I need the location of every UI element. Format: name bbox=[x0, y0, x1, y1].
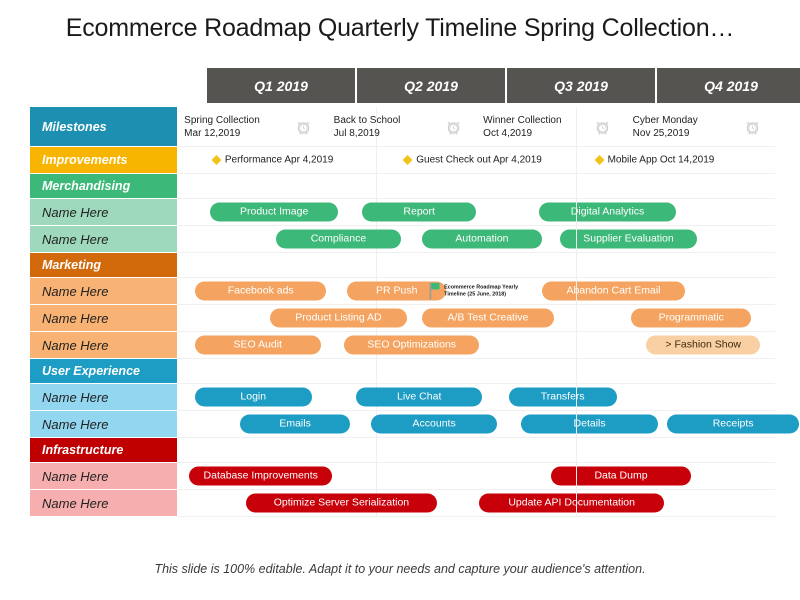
flag-note-line1: Ecommerce Roadmap Yearly bbox=[444, 284, 518, 291]
row-track-ux-2: EmailsAccountsDetailsReceipts bbox=[177, 411, 775, 438]
improvement-label: Mobile App Oct 14,2019 bbox=[608, 155, 715, 166]
row-track-ux-1: LoginLive ChatTransfers bbox=[177, 384, 775, 411]
alarm-clock-icon bbox=[594, 118, 611, 135]
task-bar[interactable]: Abandon Cart Email bbox=[542, 282, 686, 301]
roadmap-row-ux-1: Name HereLoginLive ChatTransfers bbox=[30, 384, 775, 411]
roadmap-row-mkt-2: Name HereProduct Listing ADA/B Test Crea… bbox=[30, 305, 775, 332]
row-track-milestones: Spring CollectionMar 12,2019Back to Scho… bbox=[177, 107, 775, 147]
task-bar[interactable]: Update API Documentation bbox=[479, 494, 664, 513]
alarm-clock-icon bbox=[295, 118, 312, 135]
row-track-merch-1: Product ImageReportDigital Analytics bbox=[177, 199, 775, 226]
milestone-date: Oct 4,2019 bbox=[483, 127, 561, 140]
milestone-date: Nov 25,2019 bbox=[633, 127, 698, 140]
row-track-mkt-2: Product Listing ADA/B Test CreativeProgr… bbox=[177, 305, 775, 332]
page-title: Ecommerce Roadmap Quarterly Timeline Spr… bbox=[0, 14, 800, 43]
roadmap-row-infra-1: Name HereDatabase ImprovementsData Dump bbox=[30, 463, 775, 490]
task-bar[interactable]: Report bbox=[362, 203, 476, 222]
task-bar[interactable]: Login bbox=[195, 388, 312, 407]
task-bar[interactable]: Optimize Server Serialization bbox=[246, 494, 437, 513]
flag-annotation: Ecommerce Roadmap YearlyTimeline (25 Jun… bbox=[428, 282, 518, 301]
task-bar[interactable]: Programmatic bbox=[631, 309, 751, 328]
row-label-marketing[interactable]: Marketing bbox=[30, 253, 177, 278]
row-label-merch-1[interactable]: Name Here bbox=[30, 199, 177, 226]
task-bar[interactable]: Digital Analytics bbox=[539, 203, 677, 222]
task-bar[interactable]: Accounts bbox=[371, 415, 497, 434]
roadmap-row-merch-1: Name HereProduct ImageReportDigital Anal… bbox=[30, 199, 775, 226]
diamond-marker-icon bbox=[211, 155, 221, 165]
task-bar[interactable]: SEO Optimizations bbox=[344, 336, 479, 355]
milestone-2: Back to SchoolJul 8,2019 bbox=[334, 114, 401, 140]
task-bar[interactable]: Supplier Evaluation bbox=[560, 230, 698, 249]
task-bar[interactable]: Transfers bbox=[509, 388, 617, 407]
milestone-name: Winner Collection bbox=[483, 114, 561, 127]
row-track-marketing bbox=[177, 253, 775, 278]
roadmap-row-infra: Infrastructure bbox=[30, 438, 775, 463]
row-label-improvements[interactable]: Improvements bbox=[30, 147, 177, 174]
milestone-4: Cyber MondayNov 25,2019 bbox=[633, 114, 698, 140]
row-label-infra-2[interactable]: Name Here bbox=[30, 490, 177, 517]
row-label-infra[interactable]: Infrastructure bbox=[30, 438, 177, 463]
row-track-ux bbox=[177, 359, 775, 384]
alarm-clock-icon bbox=[744, 118, 761, 135]
task-bar[interactable]: Product Listing AD bbox=[270, 309, 408, 328]
roadmap-row-merchandising: Merchandising bbox=[30, 174, 775, 199]
row-label-merchandising[interactable]: Merchandising bbox=[30, 174, 177, 199]
row-track-merchandising bbox=[177, 174, 775, 199]
milestone-name: Spring Collection bbox=[184, 114, 260, 127]
row-label-ux-2[interactable]: Name Here bbox=[30, 411, 177, 438]
flag-icon bbox=[428, 282, 441, 301]
milestone-date: Jul 8,2019 bbox=[334, 127, 401, 140]
flag-annotation-text: Ecommerce Roadmap YearlyTimeline (25 Jun… bbox=[444, 284, 518, 298]
row-track-mkt-1: Facebook adsPR PushAbandon Cart EmailEco… bbox=[177, 278, 775, 305]
row-label-mkt-3[interactable]: Name Here bbox=[30, 332, 177, 359]
diamond-marker-icon bbox=[594, 155, 604, 165]
task-bar[interactable]: SEO Audit bbox=[195, 336, 321, 355]
row-label-merch-2[interactable]: Name Here bbox=[30, 226, 177, 253]
row-label-mkt-2[interactable]: Name Here bbox=[30, 305, 177, 332]
flag-note-line2: Timeline (25 June, 2018) bbox=[444, 291, 518, 298]
task-bar[interactable]: Product Image bbox=[210, 203, 339, 222]
roadmap-slide: Ecommerce Roadmap Quarterly Timeline Spr… bbox=[0, 0, 800, 600]
improvement-2: Guest Check out Apr 4,2019 bbox=[404, 155, 542, 166]
row-track-infra bbox=[177, 438, 775, 463]
improvement-label: Performance Apr 4,2019 bbox=[225, 155, 333, 166]
milestone-name: Back to School bbox=[334, 114, 401, 127]
quarter-header-row: Q1 2019Q2 2019Q3 2019Q4 2019 bbox=[207, 68, 800, 103]
row-track-mkt-3: SEO AuditSEO Optimizations> Fashion Show bbox=[177, 332, 775, 359]
row-track-infra-1: Database ImprovementsData Dump bbox=[177, 463, 775, 490]
improvement-3: Mobile App Oct 14,2019 bbox=[596, 155, 715, 166]
row-track-merch-2: ComplianceAutomationSupplier Evaluation bbox=[177, 226, 775, 253]
task-bar[interactable]: Live Chat bbox=[356, 388, 482, 407]
row-label-mkt-1[interactable]: Name Here bbox=[30, 278, 177, 305]
improvement-1: Performance Apr 4,2019 bbox=[213, 155, 333, 166]
row-track-infra-2: Optimize Server SerializationUpdate API … bbox=[177, 490, 775, 517]
row-label-milestones[interactable]: Milestones bbox=[30, 107, 177, 147]
milestone-date: Mar 12,2019 bbox=[184, 127, 260, 140]
task-bar[interactable]: Receipts bbox=[667, 415, 799, 434]
roadmap-row-milestones: MilestonesSpring CollectionMar 12,2019Ba… bbox=[30, 107, 775, 147]
milestone-name: Cyber Monday bbox=[633, 114, 698, 127]
milestone-3: Winner CollectionOct 4,2019 bbox=[483, 114, 561, 140]
quarter-header-1: Q1 2019 bbox=[207, 68, 357, 103]
alarm-clock-icon bbox=[445, 118, 462, 135]
row-label-ux-1[interactable]: Name Here bbox=[30, 384, 177, 411]
milestone-1: Spring CollectionMar 12,2019 bbox=[184, 114, 260, 140]
roadmap-row-mkt-3: Name HereSEO AuditSEO Optimizations> Fas… bbox=[30, 332, 775, 359]
task-bar[interactable]: Details bbox=[521, 415, 659, 434]
row-track-improvements: Performance Apr 4,2019Guest Check out Ap… bbox=[177, 147, 775, 174]
improvement-label: Guest Check out Apr 4,2019 bbox=[416, 155, 542, 166]
task-bar[interactable]: Facebook ads bbox=[195, 282, 327, 301]
quarter-header-2: Q2 2019 bbox=[357, 68, 507, 103]
row-label-infra-1[interactable]: Name Here bbox=[30, 463, 177, 490]
diamond-marker-icon bbox=[403, 155, 413, 165]
footer-note: This slide is 100% editable. Adapt it to… bbox=[0, 562, 800, 576]
roadmap-row-infra-2: Name HereOptimize Server SerializationUp… bbox=[30, 490, 775, 517]
task-bar[interactable]: > Fashion Show bbox=[646, 336, 760, 355]
roadmap-row-ux: User Experience bbox=[30, 359, 775, 384]
roadmap-row-merch-2: Name HereComplianceAutomationSupplier Ev… bbox=[30, 226, 775, 253]
row-label-ux[interactable]: User Experience bbox=[30, 359, 177, 384]
task-bar[interactable]: Database Improvements bbox=[189, 467, 333, 486]
roadmap-row-marketing: Marketing bbox=[30, 253, 775, 278]
quarter-header-3: Q3 2019 bbox=[507, 68, 657, 103]
quarter-header-4: Q4 2019 bbox=[657, 68, 800, 103]
roadmap-row-ux-2: Name HereEmailsAccountsDetailsReceipts bbox=[30, 411, 775, 438]
task-bar[interactable]: Automation bbox=[422, 230, 542, 249]
task-bar[interactable]: Compliance bbox=[276, 230, 402, 249]
roadmap-row-improvements: ImprovementsPerformance Apr 4,2019Guest … bbox=[30, 147, 775, 174]
task-bar[interactable]: Emails bbox=[240, 415, 351, 434]
task-bar[interactable]: A/B Test Creative bbox=[422, 309, 554, 328]
roadmap-row-mkt-1: Name HereFacebook adsPR PushAbandon Cart… bbox=[30, 278, 775, 305]
task-bar[interactable]: Data Dump bbox=[551, 467, 692, 486]
